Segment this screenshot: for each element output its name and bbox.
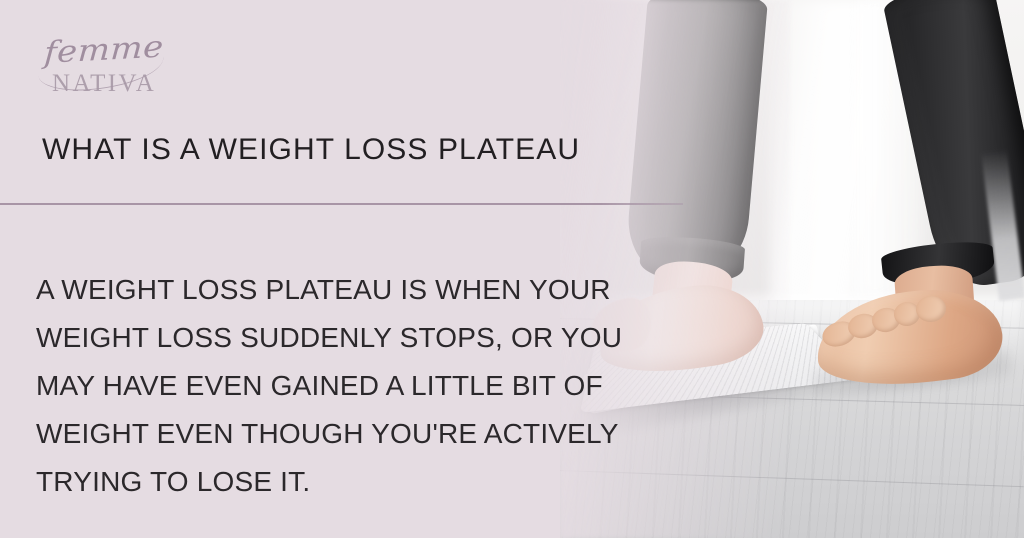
- brand-serif-wordmark: NATIVA: [52, 70, 156, 98]
- brand-logo[interactable]: femme NATIVA: [36, 30, 196, 102]
- title-divider: [0, 203, 683, 205]
- body-line: TRYING TO LOSE IT.: [36, 458, 636, 506]
- body-paragraph: A WEIGHT LOSS PLATEAU IS WHEN YOUR WEIGH…: [36, 266, 636, 506]
- body-line: WEIGHT EVEN THOUGH YOU'RE ACTIVELY: [36, 410, 636, 458]
- infographic-canvas: femme NATIVA WHAT IS A WEIGHT LOSS PLATE…: [0, 0, 1024, 538]
- page-title: WHAT IS A WEIGHT LOSS PLATEAU: [42, 133, 580, 167]
- body-line: A WEIGHT LOSS PLATEAU IS WHEN YOUR: [36, 266, 636, 314]
- body-line: MAY HAVE EVEN GAINED A LITTLE BIT OF: [36, 362, 636, 410]
- body-line: WEIGHT LOSS SUDDENLY STOPS, OR YOU: [36, 314, 636, 362]
